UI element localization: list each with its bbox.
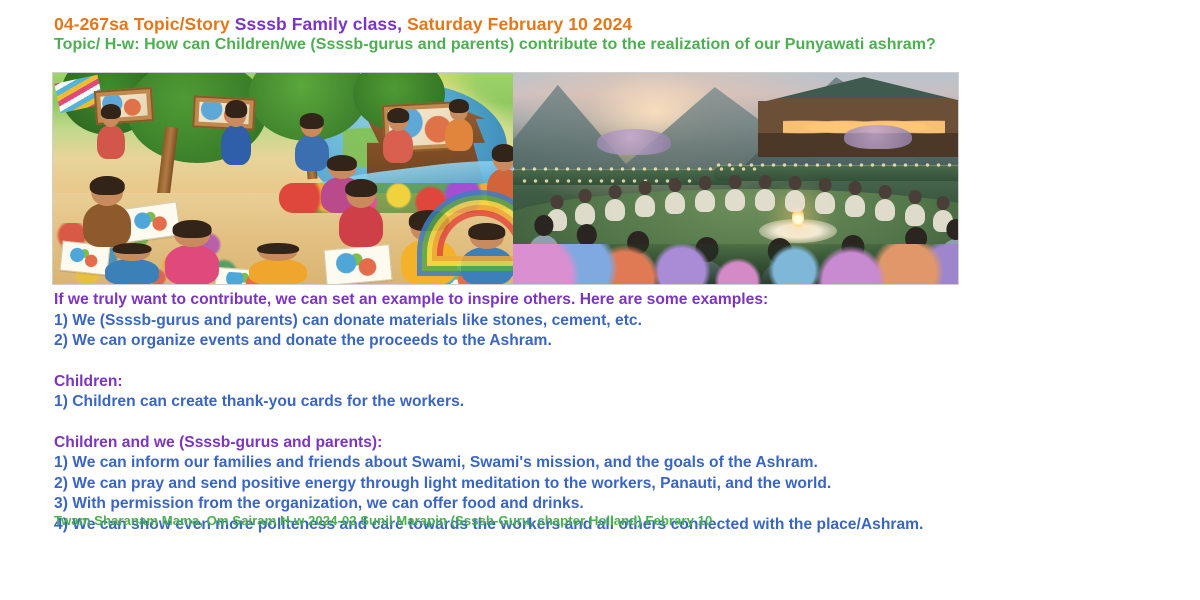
person-figure xyxy=(295,135,329,171)
list-item: 2) We can organize events and donate the… xyxy=(54,331,1154,352)
paragraph-spacer xyxy=(54,413,1154,433)
paragraph-lead-in: If we truly want to contribute, we can s… xyxy=(54,290,1154,311)
blossom-tree-icon xyxy=(844,125,912,149)
seated-person xyxy=(605,199,625,221)
title-segment-date: Saturday February 10 2024 xyxy=(407,14,632,34)
seated-person xyxy=(695,190,715,212)
seated-person xyxy=(575,203,595,225)
list-item: 1) We (Ssssb-gurus and parents) can dona… xyxy=(54,311,1154,332)
photo-background xyxy=(513,73,958,284)
person-figure xyxy=(339,205,383,247)
document-page: 04-267sa Topic/Story Ssssb Family class,… xyxy=(0,0,1200,600)
image-strip xyxy=(52,72,959,285)
paragraph-spacer xyxy=(54,352,1154,372)
person-figure xyxy=(445,119,473,151)
paragraph-children: Children: 1) Children can create thank-y… xyxy=(54,372,1154,413)
seated-person xyxy=(845,195,865,217)
person-figure xyxy=(97,125,125,159)
seated-person xyxy=(905,204,925,226)
list-item: 1) Children can create thank-you cards f… xyxy=(54,392,1154,413)
seated-person xyxy=(755,189,775,211)
blossom-tree-icon xyxy=(597,129,671,155)
section-heading: Children: xyxy=(54,372,1154,393)
seated-person xyxy=(815,192,835,214)
list-item: 2) We can pray and send positive energy … xyxy=(54,474,1154,495)
community-art-garden-illustration xyxy=(53,73,513,284)
document-footer: Twam Sharanam Mama, Om Sairam H-w 2024-0… xyxy=(54,512,712,530)
body-content: If we truly want to contribute, we can s… xyxy=(54,290,1154,535)
foreground-flowers xyxy=(513,244,958,284)
drawing-sheet xyxy=(324,244,393,284)
flower-bed xyxy=(279,183,509,213)
person-figure xyxy=(487,169,513,209)
person-figure xyxy=(249,259,307,284)
person-figure xyxy=(105,259,159,284)
seated-person xyxy=(725,189,745,211)
meditation-circle-photo xyxy=(513,73,958,284)
section-heading: Children and we (Ssssb-gurus and parents… xyxy=(54,433,1154,454)
document-header: 04-267sa Topic/Story Ssssb Family class,… xyxy=(54,14,1154,54)
paragraph-examples: If we truly want to contribute, we can s… xyxy=(54,290,1154,352)
illustration-background xyxy=(53,73,513,284)
seated-person xyxy=(785,190,805,212)
seated-person xyxy=(635,195,655,217)
title-segment-class: Ssssb Family class, xyxy=(235,14,407,34)
fairy-lights xyxy=(713,161,958,169)
page-title: 04-267sa Topic/Story Ssssb Family class,… xyxy=(54,14,1154,34)
title-segment-code: 04-267sa Topic/Story xyxy=(54,14,235,34)
person-figure xyxy=(165,245,219,284)
seated-person xyxy=(665,192,685,214)
list-item: 1) We can inform our families and friend… xyxy=(54,453,1154,474)
person-figure xyxy=(83,203,131,247)
person-figure xyxy=(383,129,413,163)
seated-person xyxy=(875,199,895,221)
page-subtitle: Topic/ H-w: How can Children/we (Ssssb-g… xyxy=(54,36,1134,54)
person-figure xyxy=(221,125,251,165)
